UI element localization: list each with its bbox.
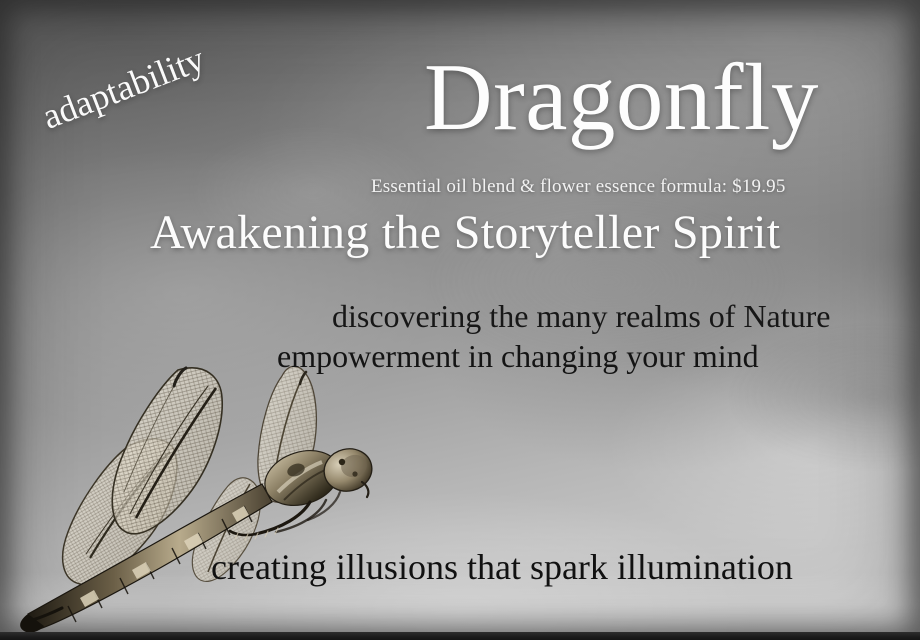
benefit-line-1: discovering the many realms of Nature — [332, 300, 831, 332]
product-tagline: Essential oil blend & flower essence for… — [371, 177, 786, 196]
page-title: Dragonfly — [424, 50, 819, 145]
headline: Awakening the Storyteller Spirit — [150, 209, 780, 257]
benefit-line-2: empowerment in changing your mind — [277, 340, 759, 372]
poster-canvas: adaptability Dragonfly Essential oil ble… — [0, 0, 920, 640]
bottom-border — [0, 632, 920, 640]
benefit-line-3: creating illusions that spark illuminati… — [211, 549, 793, 585]
